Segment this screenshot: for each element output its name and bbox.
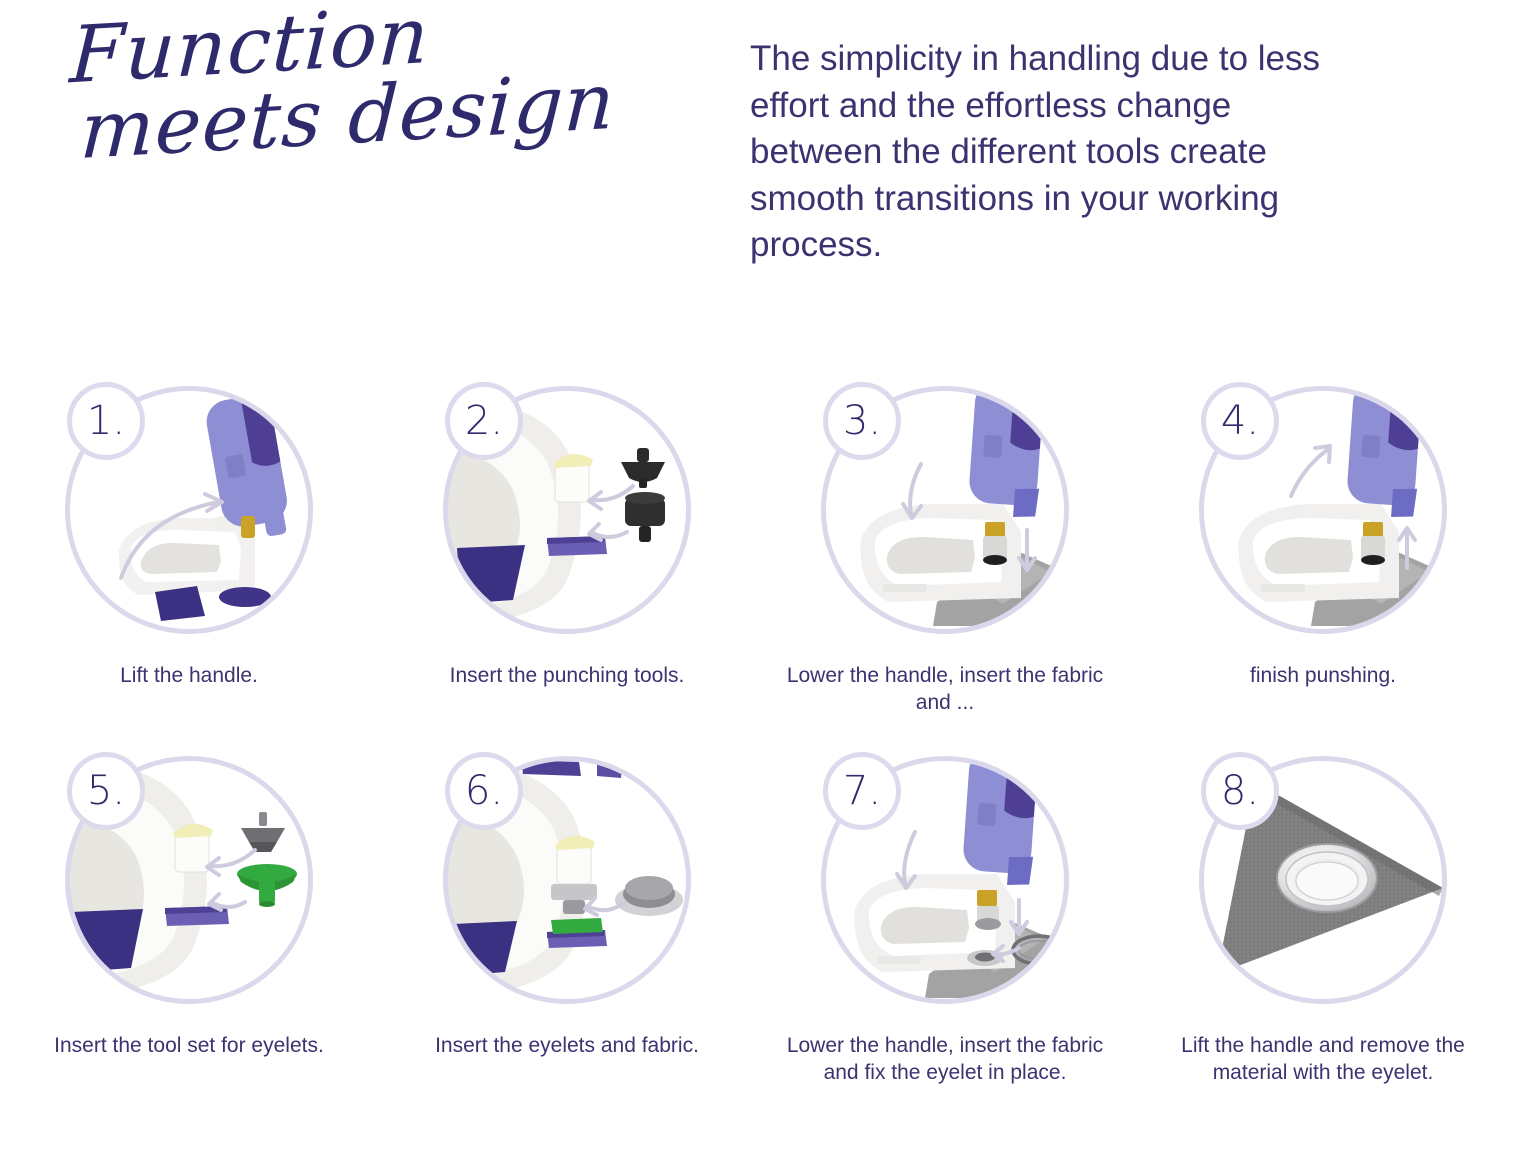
step-figure: 7. <box>811 748 1079 1010</box>
intro-block: The simplicity in handling due to less e… <box>740 0 1440 269</box>
step-number: 2. <box>465 401 503 441</box>
step-caption: Lift the handle. <box>24 662 354 689</box>
step-item: 6. Insert the eyelets and fabric. <box>378 748 756 1118</box>
step-item: 2. Insert the punching tools. <box>378 378 756 748</box>
step-caption: Lift the handle and remove the material … <box>1148 1032 1498 1087</box>
step-item: 1. Lift the handle. <box>0 378 378 748</box>
step-figure: 5. <box>55 748 323 1010</box>
step-number-badge: 5. <box>67 752 145 830</box>
step-number-badge: 3. <box>823 382 901 460</box>
step-number: 3. <box>843 401 881 441</box>
step-figure: 8. <box>1189 748 1457 1010</box>
step-caption: Lower the handle, insert the fabric and … <box>770 1032 1120 1087</box>
step-number: 8. <box>1221 771 1259 811</box>
step-number-badge: 2. <box>445 382 523 460</box>
step-item: 4. finish punshing. <box>1134 378 1512 748</box>
step-number-badge: 7. <box>823 752 901 830</box>
step-figure: 3. <box>811 378 1079 640</box>
step-number: 5. <box>87 771 125 811</box>
step-caption: Insert the tool set for eyelets. <box>14 1032 364 1059</box>
intro-paragraph: The simplicity in handling due to less e… <box>750 36 1350 269</box>
step-caption: finish punshing. <box>1158 662 1488 689</box>
step-number-badge: 6. <box>445 752 523 830</box>
page-title: Functionmeets design <box>64 0 738 172</box>
step-figure: 1. <box>55 378 323 640</box>
step-number: 1. <box>87 401 125 441</box>
step-item: 8. Lift the handle and remove the materi… <box>1134 748 1512 1118</box>
page-header: Functionmeets design The simplicity in h… <box>0 0 1513 269</box>
step-caption: Lower the handle, insert the fabric and … <box>770 662 1120 717</box>
step-caption: Insert the eyelets and fabric. <box>392 1032 742 1059</box>
step-number: 7. <box>843 771 881 811</box>
step-figure: 6. <box>433 748 701 1010</box>
headline-block: Functionmeets design <box>0 0 740 171</box>
steps-grid: 1. Lift the handle. <box>0 378 1513 1118</box>
step-number-badge: 1. <box>67 382 145 460</box>
step-number-badge: 4. <box>1201 382 1279 460</box>
step-number-badge: 8. <box>1201 752 1279 830</box>
step-number: 4. <box>1221 401 1259 441</box>
step-figure: 2. <box>433 378 701 640</box>
step-figure: 4. <box>1189 378 1457 640</box>
step-item: 3. Lower the handle, insert the fabric a… <box>756 378 1134 748</box>
step-caption: Insert the punching tools. <box>402 662 732 689</box>
step-number: 6. <box>465 771 503 811</box>
step-item: 5. Insert the tool set for eyelets. <box>0 748 378 1118</box>
step-item: 7. Lower the handle, insert the fabric a… <box>756 748 1134 1118</box>
